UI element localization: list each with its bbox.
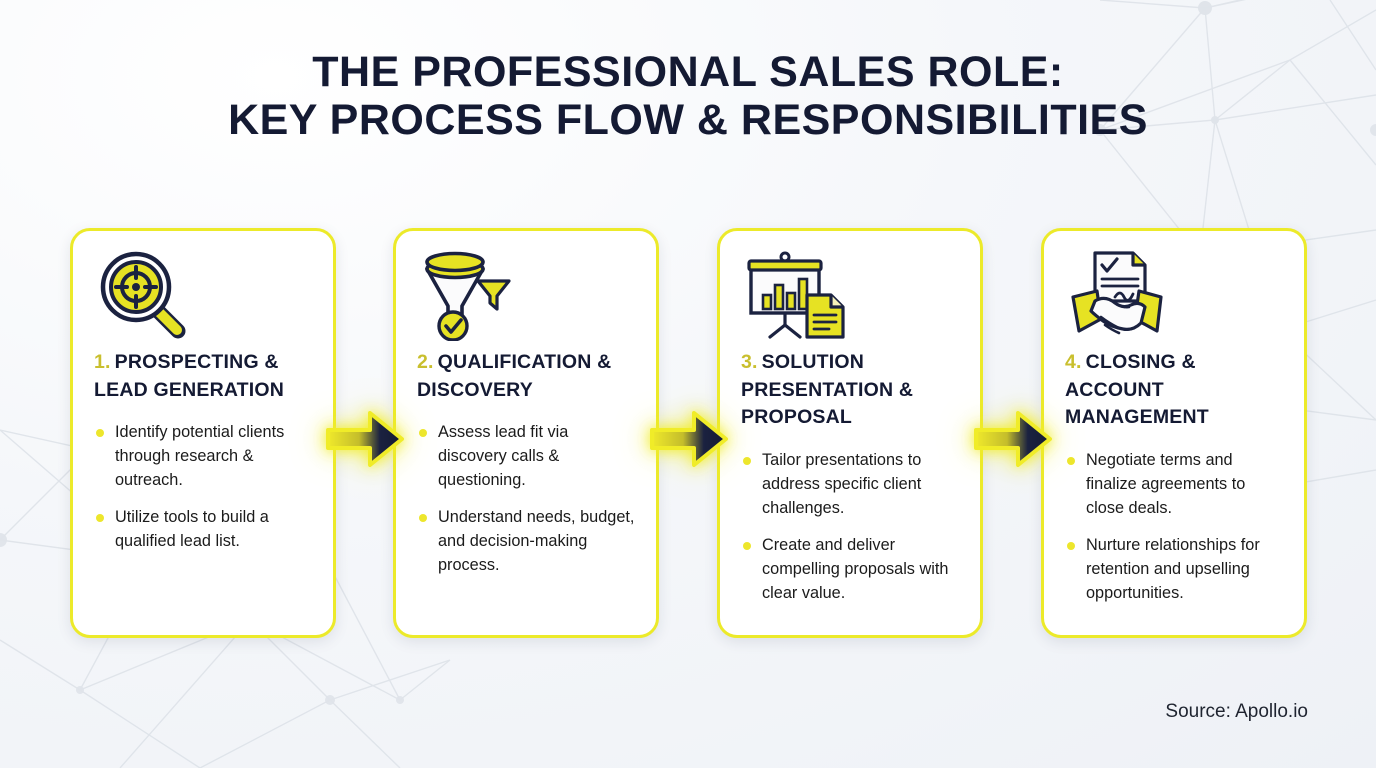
source-attribution: Source: Apollo.io: [1165, 701, 1308, 723]
step-card-solution-presentation[interactable]: 3.SOLUTION PRESENTATION & PROPOSAL Tailo…: [717, 228, 983, 638]
step-title: PROSPECTING & LEAD GENERATION: [94, 351, 284, 401]
list-item: Assess lead fit via discovery calls & qu…: [417, 421, 637, 493]
funnel-check-icon: [415, 249, 637, 341]
list-item: Negotiate terms and finalize agreements …: [1065, 449, 1285, 521]
arrow-step-3-to-4: [974, 408, 1052, 470]
step-card-qualification[interactable]: 2.QUALIFICATION & DISCOVERY Assess lead …: [393, 228, 659, 638]
list-item: Understand needs, budget, and decision-m…: [417, 506, 637, 578]
step-number: 4.: [1065, 351, 1082, 373]
list-item: Tailor presentations to address specific…: [741, 449, 961, 521]
arrow-step-1-to-2: [326, 408, 404, 470]
list-item: Create and deliver compelling proposals …: [741, 534, 961, 606]
step-title: QUALIFICATION & DISCOVERY: [417, 351, 611, 401]
step-number: 3.: [741, 351, 758, 373]
arrow-step-2-to-3: [650, 408, 728, 470]
step-title: SOLUTION PRESENTATION & PROPOSAL: [741, 351, 913, 428]
title-line-1: THE PROFESSIONAL SALES ROLE:: [0, 48, 1376, 96]
step-card-heading: 2.QUALIFICATION & DISCOVERY: [415, 349, 637, 404]
step-bullet-list: Assess lead fit via discovery calls & qu…: [415, 421, 637, 578]
step-number: 2.: [417, 351, 434, 373]
step-card-heading: 1.PROSPECTING & LEAD GENERATION: [92, 349, 314, 404]
step-bullet-list: Negotiate terms and finalize agreements …: [1063, 449, 1285, 606]
handshake-contract-icon: [1063, 249, 1285, 341]
list-item: Nurture relationships for retention and …: [1065, 534, 1285, 606]
step-card-heading: 3.SOLUTION PRESENTATION & PROPOSAL: [739, 349, 961, 432]
step-card-prospecting[interactable]: 1.PROSPECTING & LEAD GENERATION Identify…: [70, 228, 336, 638]
presentation-chart-document-icon: [739, 249, 961, 341]
magnifying-glass-target-icon: [92, 249, 314, 341]
step-card-heading: 4.CLOSING & ACCOUNT MANAGEMENT: [1063, 349, 1285, 432]
step-bullet-list: Identify potential clients through resea…: [92, 421, 314, 554]
title-line-2: KEY PROCESS FLOW & RESPONSIBILITIES: [0, 96, 1376, 144]
step-bullet-list: Tailor presentations to address specific…: [739, 449, 961, 606]
step-title: CLOSING & ACCOUNT MANAGEMENT: [1065, 351, 1209, 428]
list-item: Identify potential clients through resea…: [94, 421, 314, 493]
list-item: Utilize tools to build a qualified lead …: [94, 506, 314, 554]
step-card-closing[interactable]: 4.CLOSING & ACCOUNT MANAGEMENT Negotiate…: [1041, 228, 1307, 638]
step-number: 1.: [94, 351, 111, 373]
page-title: THE PROFESSIONAL SALES ROLE: KEY PROCESS…: [0, 48, 1376, 144]
